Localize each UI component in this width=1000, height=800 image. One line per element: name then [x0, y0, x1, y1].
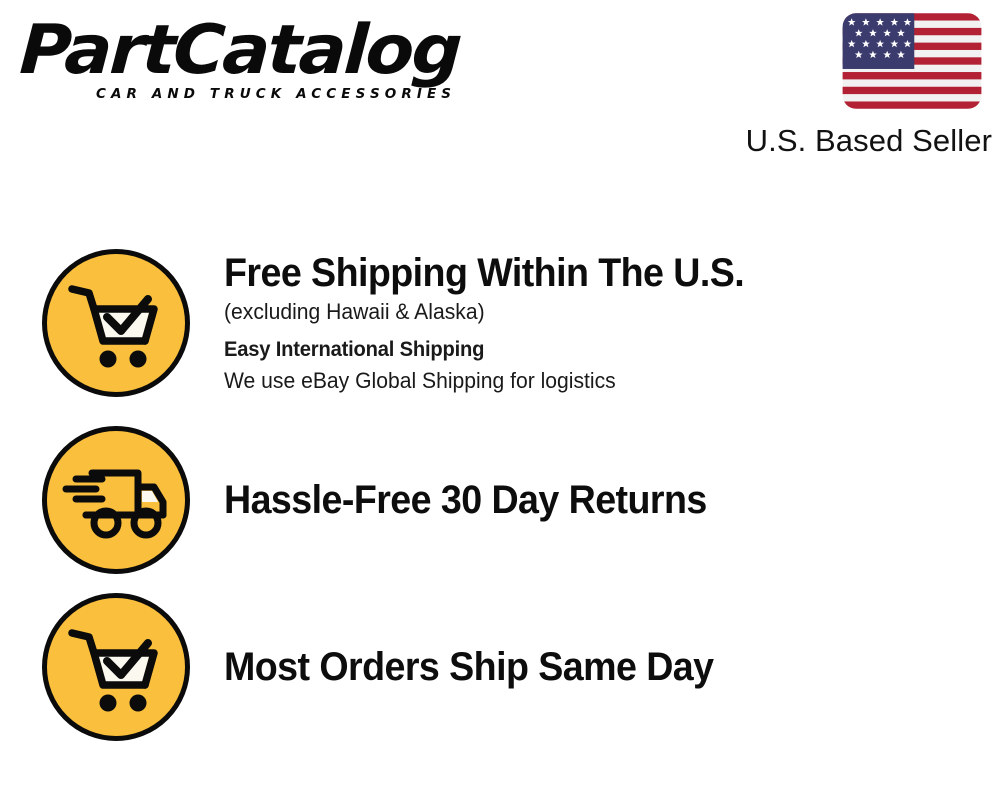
us-based-seller-badge: U.S. Based Seller — [704, 8, 994, 159]
brand-logo[interactable]: PartCatalog CAR AND TRUCK ACCESSORIES — [22, 14, 492, 114]
feature-row: Hassle-Free 30 Day Returns — [0, 414, 1000, 586]
feature-row: Most Orders Ship Same Day — [0, 586, 1000, 748]
promo-banner: PartCatalog CAR AND TRUCK ACCESSORIES — [0, 0, 1000, 800]
feature-text: Free Shipping Within The U.S. (excluding… — [224, 250, 1000, 396]
feature-subline-strong: Easy International Shipping — [224, 333, 950, 366]
feature-row: Free Shipping Within The U.S. (excluding… — [0, 232, 1000, 414]
shopping-cart-check-icon — [42, 593, 190, 741]
feature-text: Most Orders Ship Same Day — [224, 644, 1000, 691]
feature-headline: Free Shipping Within The U.S. — [224, 250, 935, 297]
feature-subline: We use eBay Global Shipping for logistic… — [224, 366, 950, 396]
feature-text: Hassle-Free 30 Day Returns — [224, 477, 1000, 524]
feature-subline: (excluding Hawaii & Alaska) — [224, 297, 950, 327]
brand-wordmark: PartCatalog — [18, 14, 511, 88]
feature-headline: Most Orders Ship Same Day — [224, 644, 935, 691]
shopping-cart-check-icon — [42, 249, 190, 397]
us-flag-icon — [838, 8, 986, 114]
us-based-seller-label: U.S. Based Seller — [704, 123, 992, 159]
delivery-truck-icon — [42, 426, 190, 574]
feature-headline: Hassle-Free 30 Day Returns — [224, 477, 935, 524]
